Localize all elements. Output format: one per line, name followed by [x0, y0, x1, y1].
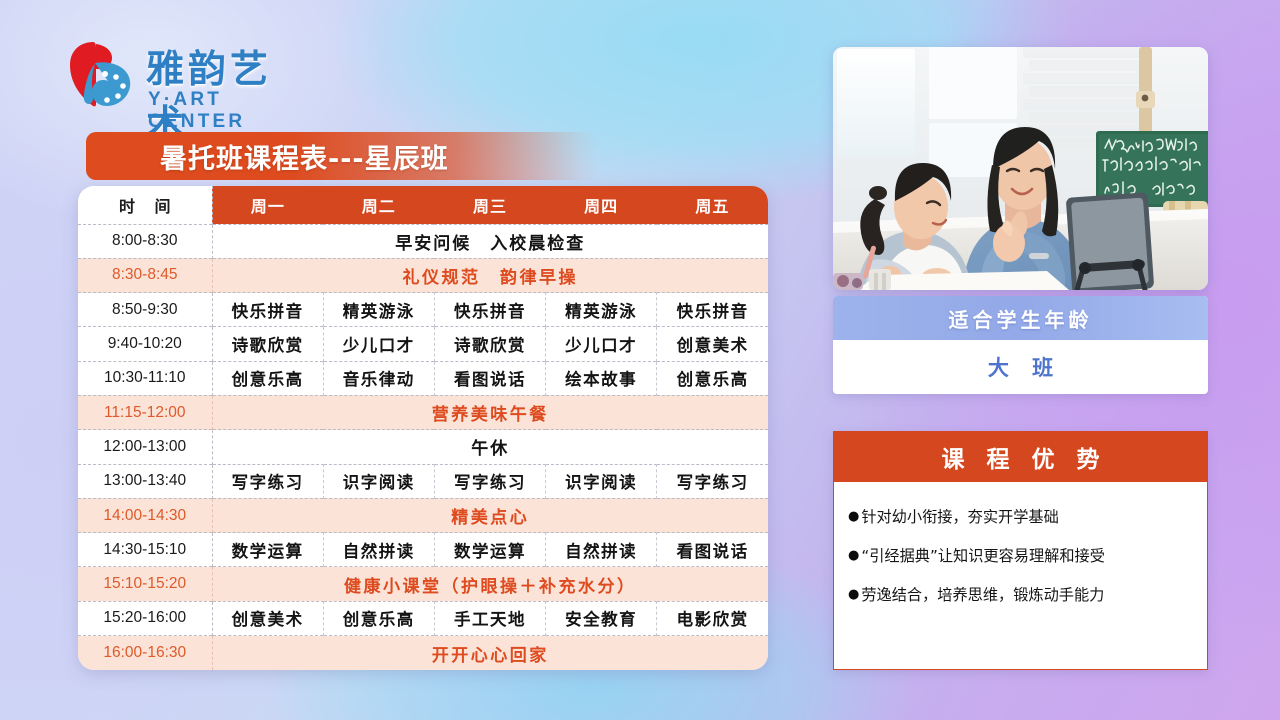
schedule-activity-cell: 写字练习 — [434, 464, 545, 498]
table-row: 8:50-9:30快乐拼音精英游泳快乐拼音精英游泳快乐拼音 — [78, 293, 768, 327]
schedule-activity-cell: 诗歌欣赏 — [434, 327, 545, 361]
schedule-time-slot: 12:00-13:00 — [78, 430, 212, 464]
schedule-activity-cell: 识字阅读 — [323, 464, 434, 498]
schedule-time-slot: 15:20-16:00 — [78, 601, 212, 635]
schedule-activity-cell: 快乐拼音 — [212, 293, 323, 327]
table-row: 11:15-12:00营养美味午餐 — [78, 395, 768, 429]
table-row: 14:30-15:10数学运算自然拼读数学运算自然拼读看图说话 — [78, 533, 768, 567]
schedule-activity-cell: 快乐拼音 — [657, 293, 768, 327]
classroom-photo — [833, 47, 1208, 290]
schedule-time-slot: 8:50-9:30 — [78, 293, 212, 327]
schedule-time-slot: 15:10-15:20 — [78, 567, 212, 601]
course-advantages-card: 课 程 优 势 ●针对幼小衔接，夯实开学基础●“引经据典”让知识更容易理解和接受… — [833, 431, 1208, 670]
schedule-time-slot: 11:15-12:00 — [78, 395, 212, 429]
schedule-activity-cell: 写字练习 — [657, 464, 768, 498]
course-advantages-list: ●针对幼小衔接，夯实开学基础●“引经据典”让知识更容易理解和接受●劳逸结合，培养… — [834, 482, 1207, 605]
schedule-header-day-1: 周一 — [212, 186, 323, 224]
schedule-activity-cell: 少儿口才 — [546, 327, 657, 361]
advantage-item: ●劳逸结合，培养思维，锻炼动手能力 — [848, 586, 1193, 605]
schedule-header-time: 时 间 — [78, 186, 212, 224]
schedule-activity-cell: 精英游泳 — [323, 293, 434, 327]
schedule-activity-cell: 创意乐高 — [323, 601, 434, 635]
course-advantages-header: 课 程 优 势 — [834, 432, 1207, 482]
schedule-activity-span: 开开心心回家 — [212, 636, 768, 670]
table-row: 13:00-13:40写字练习识字阅读写字练习识字阅读写字练习 — [78, 464, 768, 498]
advantage-item-text: 劳逸结合，培养思维，锻炼动手能力 — [861, 586, 1104, 605]
tablet-stand — [1066, 192, 1154, 290]
bullet-icon: ● — [848, 508, 859, 526]
page-title: 暑托班课程表---星辰班 — [86, 137, 449, 176]
schedule-activity-cell: 手工天地 — [434, 601, 545, 635]
schedule-activity-cell: 精英游泳 — [546, 293, 657, 327]
schedule-activity-cell: 创意美术 — [657, 327, 768, 361]
schedule-time-slot: 10:30-11:10 — [78, 361, 212, 395]
schedule-activity-cell: 写字练习 — [212, 464, 323, 498]
schedule-activity-cell: 快乐拼音 — [434, 293, 545, 327]
schedule-time-slot: 13:00-13:40 — [78, 464, 212, 498]
bullet-icon: ● — [848, 547, 859, 565]
bullet-icon: ● — [848, 586, 859, 604]
advantage-item: ●“引经据典”让知识更容易理解和接受 — [848, 547, 1193, 566]
brand-logo: 雅韵艺术 Y·ART CENTER — [62, 32, 302, 118]
schedule-time-slot: 16:00-16:30 — [78, 636, 212, 670]
schedule-activity-cell: 看图说话 — [434, 361, 545, 395]
table-row: 16:00-16:30开开心心回家 — [78, 636, 768, 670]
schedule-activity-cell: 电影欣赏 — [657, 601, 768, 635]
table-row: 8:00-8:30早安问候 入校晨检查 — [78, 224, 768, 258]
schedule-activity-span: 精美点心 — [212, 498, 768, 532]
schedule-activity-cell: 自然拼读 — [546, 533, 657, 567]
schedule-header-day-5: 周五 — [657, 186, 768, 224]
schedule-activity-span: 早安问候 入校晨检查 — [212, 224, 768, 258]
schedule-header-day-3: 周三 — [434, 186, 545, 224]
schedule-time-slot: 8:30-8:45 — [78, 258, 212, 292]
schedule-header-day-4: 周四 — [546, 186, 657, 224]
schedule-activity-cell: 数学运算 — [434, 533, 545, 567]
schedule-activity-span: 健康小课堂（护眼操＋补充水分） — [212, 567, 768, 601]
advantage-item: ●针对幼小衔接，夯实开学基础 — [848, 508, 1193, 527]
schedule-card: 时 间周一周二周三周四周五8:00-8:30早安问候 入校晨检查8:30-8:4… — [78, 186, 768, 670]
music-note-palette-logo-icon — [62, 36, 140, 114]
schedule-header-row: 时 间周一周二周三周四周五 — [78, 186, 768, 224]
schedule-activity-cell: 数学运算 — [212, 533, 323, 567]
schedule-activity-cell: 诗歌欣赏 — [212, 327, 323, 361]
age-card-header: 适合学生年龄 — [833, 296, 1208, 340]
schedule-time-slot: 9:40-10:20 — [78, 327, 212, 361]
schedule-activity-cell: 少儿口才 — [323, 327, 434, 361]
schedule-activity-cell: 识字阅读 — [546, 464, 657, 498]
student-age-card: 适合学生年龄 大 班 — [833, 296, 1208, 394]
brand-name-en: Y·ART CENTER — [148, 89, 302, 133]
page-title-banner: 暑托班课程表---星辰班 — [86, 132, 598, 180]
schedule-activity-cell: 创意乐高 — [212, 361, 323, 395]
table-row: 12:00-13:00午休 — [78, 430, 768, 464]
schedule-activity-span: 营养美味午餐 — [212, 395, 768, 429]
schedule-header-day-2: 周二 — [323, 186, 434, 224]
table-row: 9:40-10:20诗歌欣赏少儿口才诗歌欣赏少儿口才创意美术 — [78, 327, 768, 361]
advantage-item-text: 针对幼小衔接，夯实开学基础 — [861, 508, 1058, 527]
table-row: 15:20-16:00创意美术创意乐高手工天地安全教育电影欣赏 — [78, 601, 768, 635]
table-row: 8:30-8:45礼仪规范 韵律早操 — [78, 258, 768, 292]
schedule-time-slot: 8:00-8:30 — [78, 224, 212, 258]
schedule-table: 时 间周一周二周三周四周五8:00-8:30早安问候 入校晨检查8:30-8:4… — [78, 186, 768, 670]
table-row: 15:10-15:20健康小课堂（护眼操＋补充水分） — [78, 567, 768, 601]
schedule-time-slot: 14:00-14:30 — [78, 498, 212, 532]
table-row: 14:00-14:30精美点心 — [78, 498, 768, 532]
schedule-activity-span: 礼仪规范 韵律早操 — [212, 258, 768, 292]
schedule-time-slot: 14:30-15:10 — [78, 533, 212, 567]
schedule-activity-span: 午休 — [212, 430, 768, 464]
schedule-activity-cell: 音乐律动 — [323, 361, 434, 395]
table-row: 10:30-11:10创意乐高音乐律动看图说话绘本故事创意乐高 — [78, 361, 768, 395]
schedule-activity-cell: 安全教育 — [546, 601, 657, 635]
schedule-activity-cell: 绘本故事 — [546, 361, 657, 395]
schedule-activity-cell: 创意美术 — [212, 601, 323, 635]
schedule-activity-cell: 看图说话 — [657, 533, 768, 567]
advantage-item-text: “引经据典”让知识更容易理解和接受 — [861, 547, 1105, 566]
age-card-value: 大 班 — [833, 340, 1208, 394]
schedule-activity-cell: 自然拼读 — [323, 533, 434, 567]
schedule-activity-cell: 创意乐高 — [657, 361, 768, 395]
